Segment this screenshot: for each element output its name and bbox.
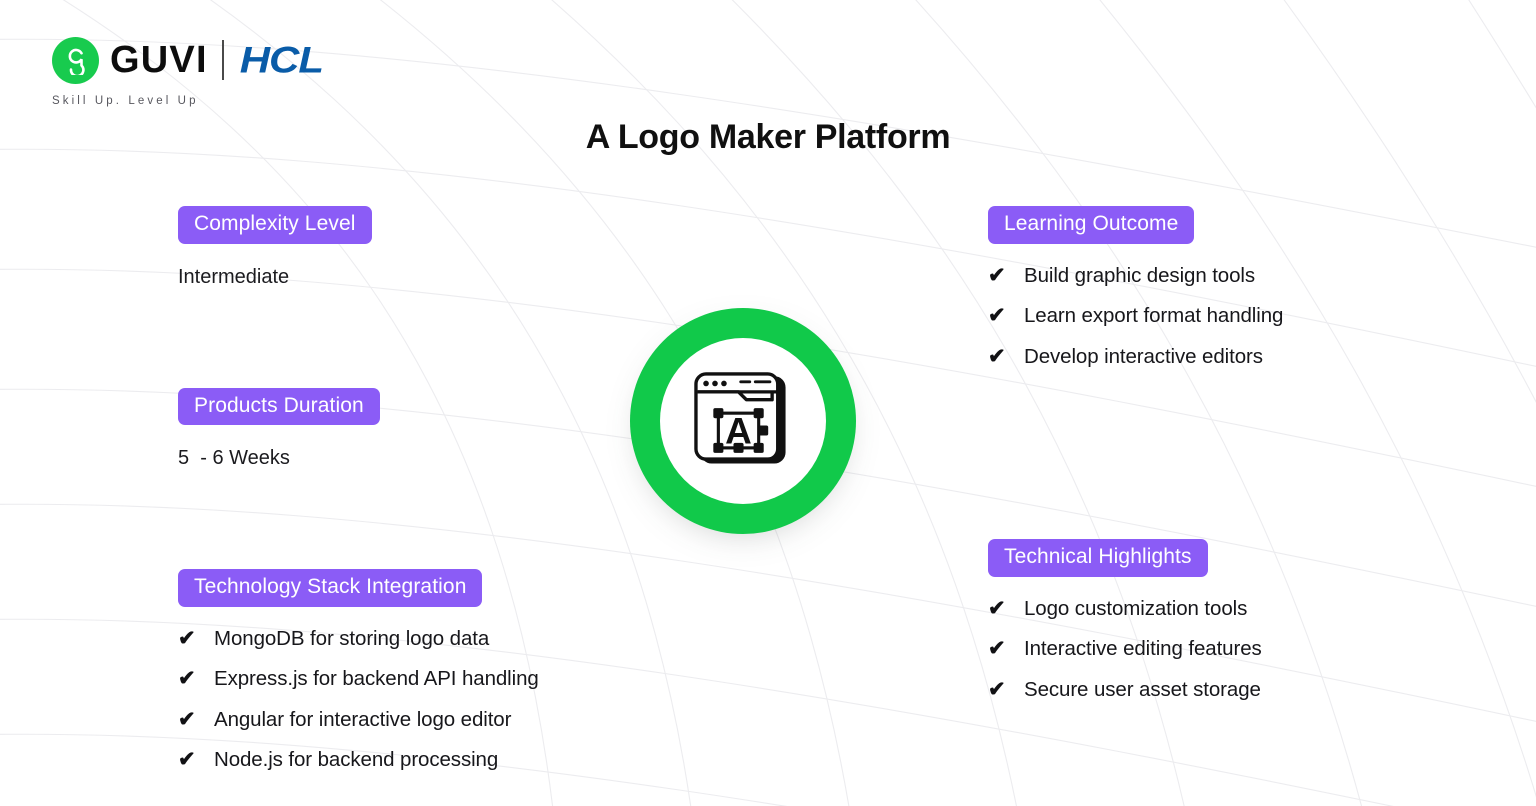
list-item: ✔ Angular for interactive logo editor	[178, 704, 638, 737]
check-icon: ✔	[178, 744, 214, 777]
guvi-g-monogram-icon	[52, 37, 99, 84]
list-item: ✔ Secure user asset storage	[988, 674, 1458, 707]
list-item-label: Secure user asset storage	[1024, 674, 1261, 706]
logo-editor-window-icon: A	[687, 365, 799, 477]
products-duration-value: 5 - 6 Weeks	[178, 445, 638, 471]
list-item: ✔ MongoDB for storing logo data	[178, 623, 638, 656]
list-item: ✔ Express.js for backend API handling	[178, 663, 638, 696]
check-icon: ✔	[988, 633, 1024, 666]
badge-complexity-level: Complexity Level	[178, 206, 372, 244]
section-products-duration: Products Duration 5 - 6 Weeks	[178, 388, 638, 472]
list-item-label: Logo customization tools	[1024, 593, 1247, 625]
list-item: ✔ Build graphic design tools	[988, 260, 1458, 293]
list-item-label: Develop interactive editors	[1024, 341, 1263, 373]
list-item: ✔ Develop interactive editors	[988, 341, 1458, 374]
badge-technical-highlights: Technical Highlights	[988, 539, 1208, 577]
check-icon: ✔	[178, 704, 214, 737]
list-item-label: Node.js for backend processing	[214, 744, 498, 776]
hcl-wordmark: HCL	[240, 42, 323, 79]
list-item-label: Interactive editing features	[1024, 633, 1262, 665]
guvi-wordmark: GUVI	[110, 41, 208, 79]
logo-row: GUVI HCL	[52, 34, 323, 86]
list-item-label: MongoDB for storing logo data	[214, 623, 489, 655]
brand-tagline: Skill Up. Level Up	[52, 95, 323, 107]
center-icon-green-ring: A	[630, 308, 856, 534]
technology-stack-list: ✔ MongoDB for storing logo data ✔ Expres…	[178, 623, 638, 777]
section-technology-stack: Technology Stack Integration ✔ MongoDB f…	[178, 569, 638, 777]
page-title: A Logo Maker Platform	[0, 118, 1536, 157]
left-content-column: Complexity Level Intermediate Products D…	[178, 206, 638, 785]
right-content-column: Learning Outcome ✔ Build graphic design …	[988, 206, 1458, 714]
learning-outcome-list: ✔ Build graphic design tools ✔ Learn exp…	[988, 260, 1458, 374]
check-icon: ✔	[988, 341, 1024, 374]
badge-technology-stack: Technology Stack Integration	[178, 569, 482, 607]
brand-logo-block: GUVI HCL Skill Up. Level Up	[52, 34, 323, 107]
check-icon: ✔	[178, 663, 214, 696]
check-icon: ✔	[178, 623, 214, 656]
list-item: ✔ Node.js for backend processing	[178, 744, 638, 777]
list-item-label: Build graphic design tools	[1024, 260, 1255, 292]
complexity-level-value: Intermediate	[178, 264, 638, 290]
check-icon: ✔	[988, 674, 1024, 707]
badge-learning-outcome: Learning Outcome	[988, 206, 1194, 244]
section-technical-highlights: Technical Highlights ✔ Logo customizatio…	[988, 539, 1458, 706]
check-icon: ✔	[988, 260, 1024, 293]
logo-divider	[222, 40, 224, 80]
center-icon-white-disc: A	[660, 338, 826, 504]
technical-highlights-list: ✔ Logo customization tools ✔ Interactive…	[988, 593, 1458, 707]
badge-products-duration: Products Duration	[178, 388, 380, 426]
list-item-label: Angular for interactive logo editor	[214, 704, 511, 736]
list-item-label: Learn export format handling	[1024, 300, 1283, 332]
section-learning-outcome: Learning Outcome ✔ Build graphic design …	[988, 206, 1458, 373]
check-icon: ✔	[988, 593, 1024, 626]
list-item: ✔ Interactive editing features	[988, 633, 1458, 666]
check-icon: ✔	[988, 300, 1024, 333]
list-item-label: Express.js for backend API handling	[214, 663, 539, 695]
list-item: ✔ Learn export format handling	[988, 300, 1458, 333]
list-item: ✔ Logo customization tools	[988, 593, 1458, 626]
center-logo-editor-badge: A	[630, 308, 856, 534]
section-complexity-level: Complexity Level Intermediate	[178, 206, 638, 290]
